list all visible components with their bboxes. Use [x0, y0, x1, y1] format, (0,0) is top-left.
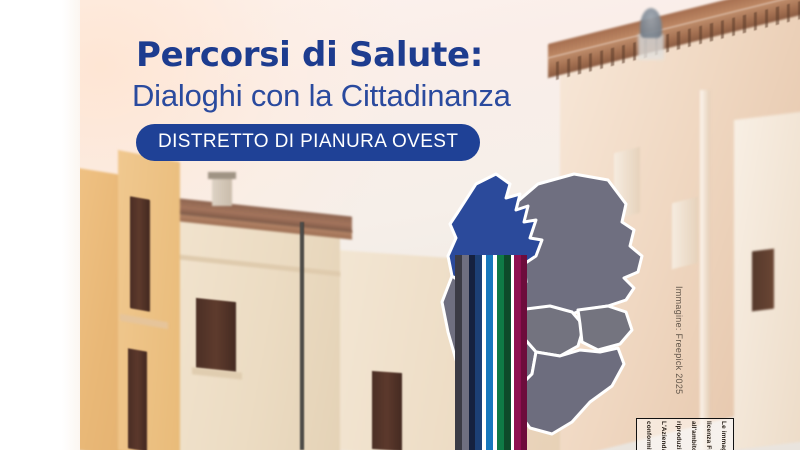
page-title-line2: Dialoghi con la Cittadinanza [132, 79, 606, 114]
legal-notice-box: Le immagini utilizzate sonolicenza Freep… [636, 418, 734, 450]
left-white-fade [62, 0, 80, 450]
district-map-svg [412, 160, 682, 440]
shutter-middle [196, 298, 236, 372]
accent-stripe-8 [504, 255, 511, 450]
accent-stripe-11 [521, 255, 527, 450]
legal-notice-line: L'Azienda USL declina ogni [660, 421, 667, 450]
title-block: Percorsi di Salute: Dialoghi con la Citt… [136, 38, 606, 161]
legal-notice-line: licenza Freepik e riservate [705, 421, 712, 450]
accent-stripe-10 [514, 255, 521, 450]
accent-stripe-1 [462, 255, 469, 450]
shutter-far-right [752, 249, 774, 312]
poster-canvas: Percorsi di Salute: Dialoghi con la Citt… [0, 0, 800, 450]
chimney [212, 176, 232, 206]
accent-stripe-3 [475, 255, 482, 450]
legal-notice-line: riproduzione e vietata. [675, 421, 682, 450]
accent-stripe-5 [486, 255, 493, 450]
shutter-mid-right [372, 371, 402, 450]
legal-notice-line: all'ambito istituzionale. La [690, 421, 697, 450]
district-map [412, 160, 682, 440]
drain-pipe [300, 222, 304, 450]
pilaster-right [700, 90, 710, 450]
district-badge[interactable]: DISTRETTO DI PIANURA OVEST [136, 124, 480, 161]
chimney-cap [208, 172, 236, 179]
page-title-line1: Percorsi di Salute: [136, 38, 606, 73]
accent-stripe-7 [497, 255, 504, 450]
accent-stripe-0 [455, 255, 462, 450]
shutter-left-lower [128, 348, 147, 450]
shutter-left-upper [130, 196, 150, 312]
accent-stripes [455, 255, 527, 450]
image-credit: Immagine: Freepick 2025 [674, 286, 684, 394]
building-middle [160, 210, 340, 450]
legal-notice-line: conformita di terzi. [645, 421, 652, 450]
legal-notice-line: Le immagini utilizzate sono [720, 421, 727, 450]
district-san-lazzaro[interactable] [578, 306, 632, 350]
